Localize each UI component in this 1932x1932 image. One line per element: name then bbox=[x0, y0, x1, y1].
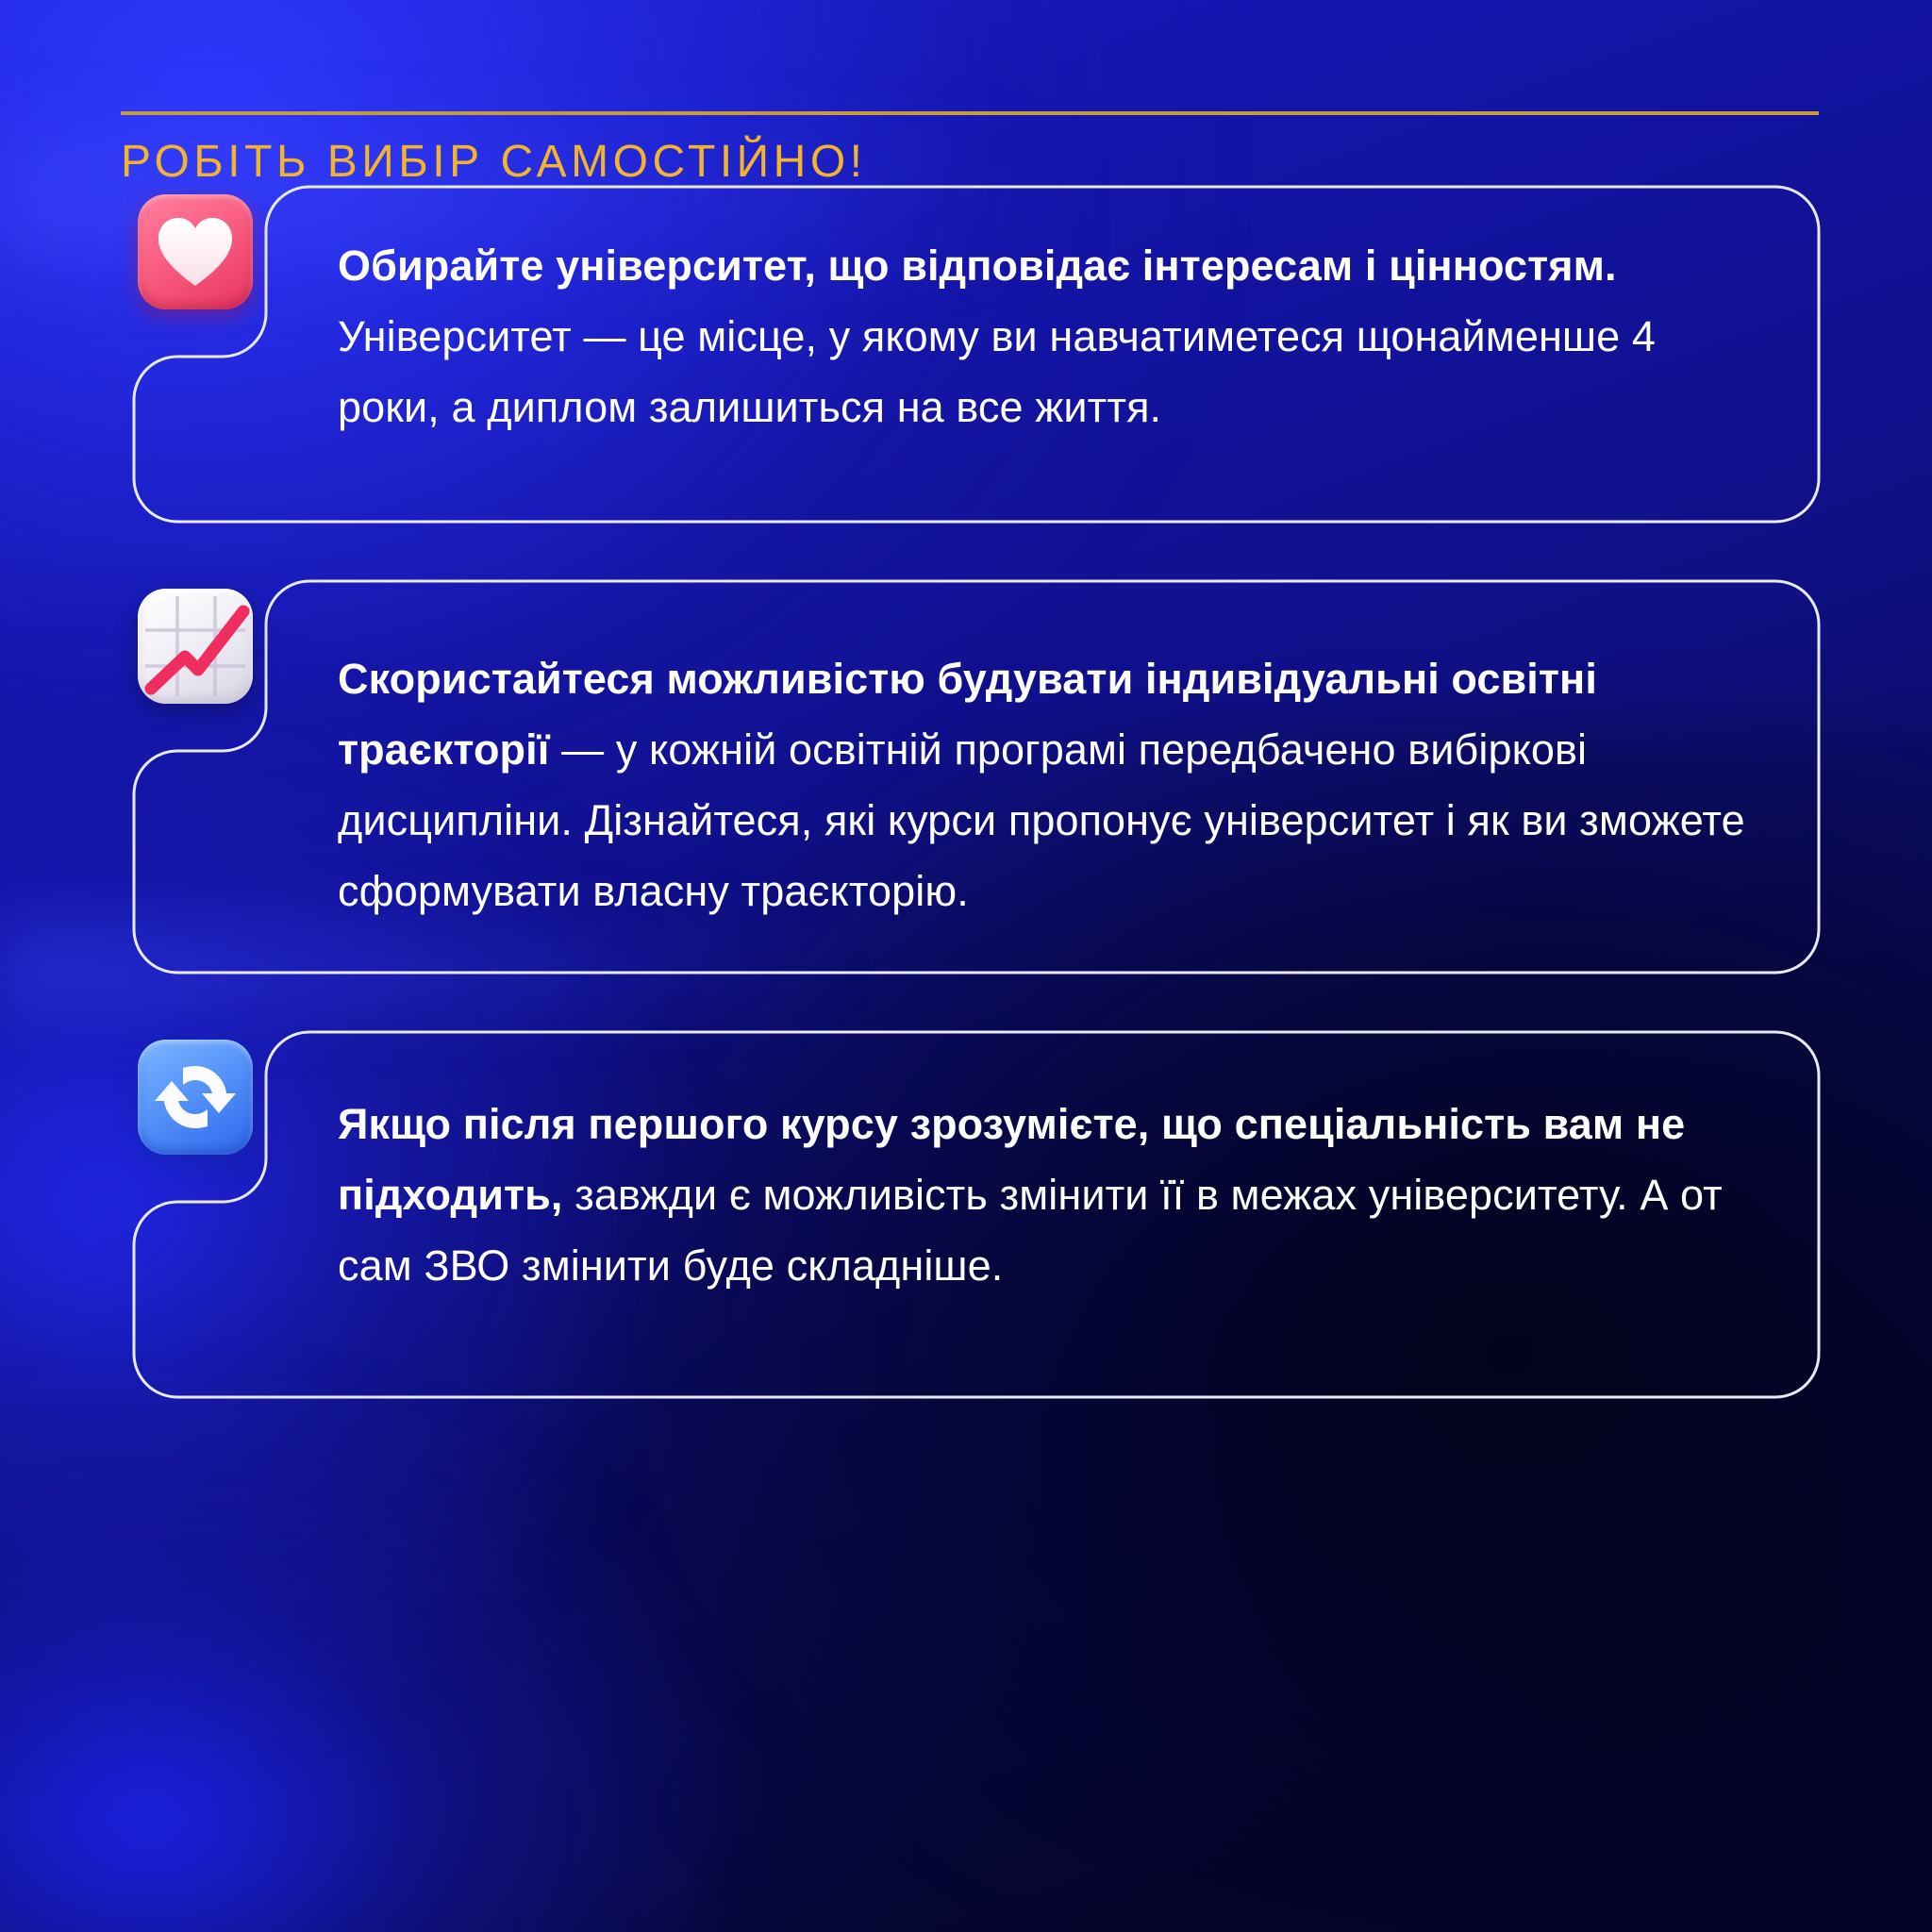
tip-card-1-rest: Університет — це місце, у якому ви навча… bbox=[338, 312, 1656, 431]
heart-icon bbox=[138, 194, 253, 309]
infographic-page: РОБІТЬ ВИБІР САМОСТІЙНО! bbox=[0, 0, 1932, 1932]
sync-arrows-icon-glyph bbox=[138, 1040, 253, 1155]
chart-increasing-icon bbox=[138, 589, 253, 704]
tip-card-2-text: Скористайтеся можливістю будувати індиві… bbox=[338, 643, 1772, 926]
tip-card-1-bold: Обирайте університет, що відповідає інте… bbox=[338, 241, 1617, 290]
tip-card-3-text: Якщо після першого курсу зрозумієте, що … bbox=[338, 1089, 1772, 1301]
tip-card-2-rest: — у кожній освітній програмі передбачено… bbox=[338, 725, 1745, 915]
heart-icon-glyph bbox=[138, 194, 253, 309]
chart-increasing-icon-glyph bbox=[138, 589, 253, 704]
tip-card-3: Якщо після першого курсу зрозумієте, що … bbox=[121, 1030, 1819, 1398]
tip-card-1: Обирайте університет, що відповідає інте… bbox=[121, 185, 1819, 523]
tip-card-1-text: Обирайте університет, що відповідає інте… bbox=[338, 230, 1753, 442]
header: РОБІТЬ ВИБІР САМОСТІЙНО! bbox=[121, 111, 1819, 185]
tip-card-2: Скористайтеся можливістю будувати індиві… bbox=[121, 579, 1819, 974]
sync-arrows-icon bbox=[138, 1040, 253, 1155]
page-title: РОБІТЬ ВИБІР САМОСТІЙНО! bbox=[121, 140, 1819, 185]
header-divider-rule bbox=[121, 111, 1819, 115]
